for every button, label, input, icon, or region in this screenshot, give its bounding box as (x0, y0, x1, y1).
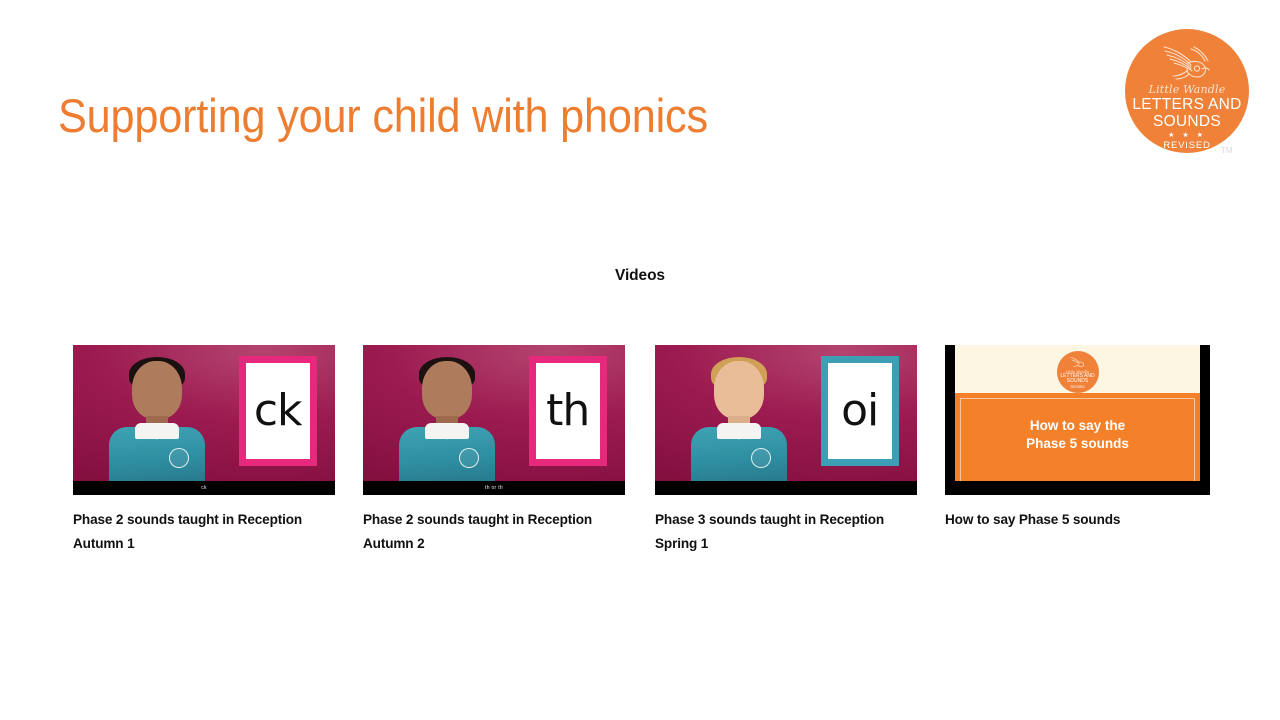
video-card[interactable]: th th or th Phase 2 sounds taught in Rec… (363, 345, 625, 556)
logo-script-text: Little Wandle (1149, 84, 1226, 95)
video-caption: How to say Phase 5 sounds (945, 508, 1185, 532)
video-caption: Phase 2 sounds taught in Reception Autum… (363, 508, 603, 556)
title-card-panel: How to say the Phase 5 sounds (955, 393, 1200, 481)
thumbnail-photo: ck (73, 345, 335, 481)
owl-icon (1069, 356, 1087, 369)
video-card[interactable]: Little Wandle LETTERS AND SOUNDS REVISED… (945, 345, 1210, 532)
child-figure (686, 345, 791, 481)
little-wandle-logo: Little Wandle LETTERS AND SOUNDS ★ ★ ★ R… (1125, 29, 1249, 153)
child-figure (104, 345, 209, 481)
video-caption: Phase 2 sounds taught in Reception Autum… (73, 508, 313, 556)
video-thumbnail[interactable]: th th or th (363, 345, 625, 495)
thumbnail-caption-bar: ck (73, 481, 335, 495)
thumbnail-caption-bar (945, 481, 1210, 495)
video-thumbnail[interactable]: Little Wandle LETTERS AND SOUNDS REVISED… (945, 345, 1210, 495)
video-card[interactable]: oi Phase 3 sounds taught in Reception Sp… (655, 345, 917, 556)
thumbnail-title-card: Little Wandle LETTERS AND SOUNDS REVISED… (955, 345, 1200, 481)
grapheme-card: th (529, 356, 607, 466)
thumbnail-caption-bar (655, 481, 917, 495)
video-caption: Phase 3 sounds taught in Reception Sprin… (655, 508, 895, 556)
logo-revised-label: REVISED (1071, 385, 1085, 389)
thumbnail-photo: th (363, 345, 625, 481)
video-grid: ck ck Phase 2 sounds taught in Reception… (0, 345, 1280, 575)
section-heading-videos: Videos (0, 267, 1280, 285)
thumbnail-caption-bar: th or th (363, 481, 625, 495)
logo-main-line-2: SOUNDS (1067, 379, 1088, 384)
title-card-line-2: Phase 5 sounds (1026, 435, 1129, 453)
video-thumbnail[interactable]: ck ck (73, 345, 335, 495)
owl-icon (1158, 43, 1216, 83)
page-title: Supporting your child with phonics (58, 88, 708, 143)
video-thumbnail[interactable]: oi (655, 345, 917, 495)
grapheme-text: th (546, 389, 589, 433)
trademark-mark: TM (1221, 146, 1233, 155)
logo-main-line-2: SOUNDS (1153, 114, 1221, 129)
video-card[interactable]: ck ck Phase 2 sounds taught in Reception… (73, 345, 335, 556)
grapheme-text: oi (841, 389, 878, 433)
child-figure (394, 345, 499, 481)
grapheme-card: ck (239, 356, 317, 466)
title-card-line-1: How to say the (1026, 417, 1129, 435)
grapheme-card: oi (821, 356, 899, 466)
thumbnail-photo: oi (655, 345, 917, 481)
logo-stars: ★ ★ ★ (1168, 131, 1206, 140)
grapheme-text: ck (254, 389, 302, 433)
title-card-text: How to say the Phase 5 sounds (1026, 417, 1129, 453)
logo-main-line-1: LETTERS AND (1132, 97, 1241, 112)
little-wandle-logo-small: Little Wandle LETTERS AND SOUNDS REVISED (1057, 351, 1099, 393)
logo-revised-label: REVISED (1163, 141, 1210, 151)
